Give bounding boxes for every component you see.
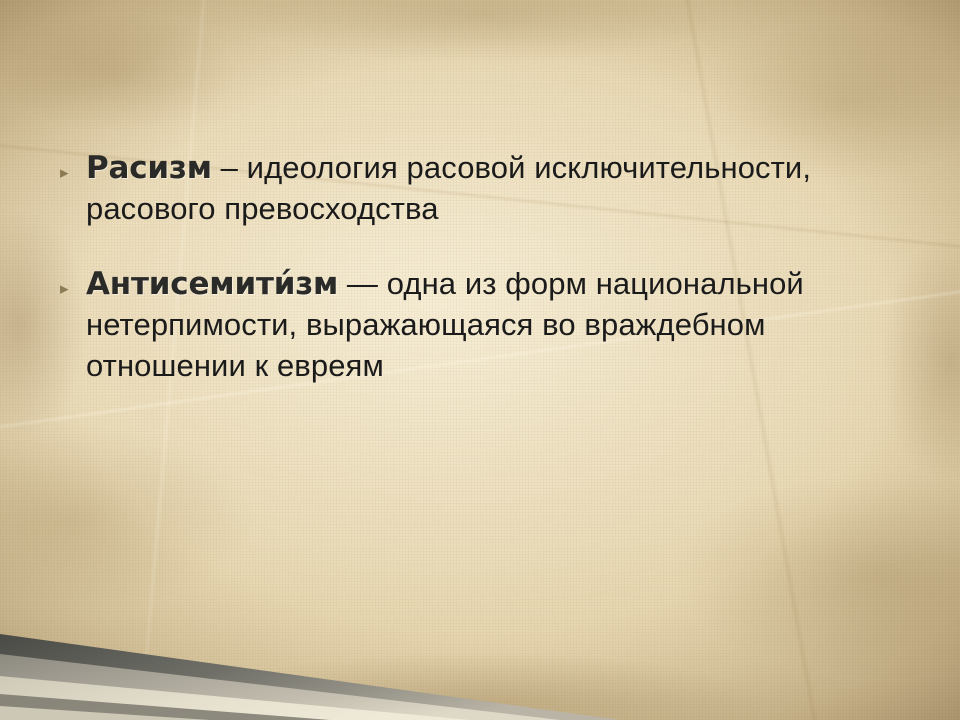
list-item: ▸ Расизм – идеология расовой исключитель…: [60, 148, 905, 230]
list-item: ▸ Антисемити́зм — одна из форм националь…: [60, 264, 905, 387]
bullet-triangle-icon: ▸: [60, 148, 86, 181]
slide-canvas: ▸ Расизм – идеология расовой исключитель…: [0, 0, 960, 720]
slide-body: ▸ Расизм – идеология расовой исключитель…: [60, 148, 905, 421]
bullet-triangle-icon: ▸: [60, 264, 86, 297]
term-label: Расизм: [86, 150, 212, 186]
term-label: Антисемити́зм: [86, 266, 338, 302]
bullet-text: Расизм – идеология расовой исключительно…: [86, 148, 905, 230]
bullet-text: Антисемити́зм — одна из форм национально…: [86, 264, 905, 387]
